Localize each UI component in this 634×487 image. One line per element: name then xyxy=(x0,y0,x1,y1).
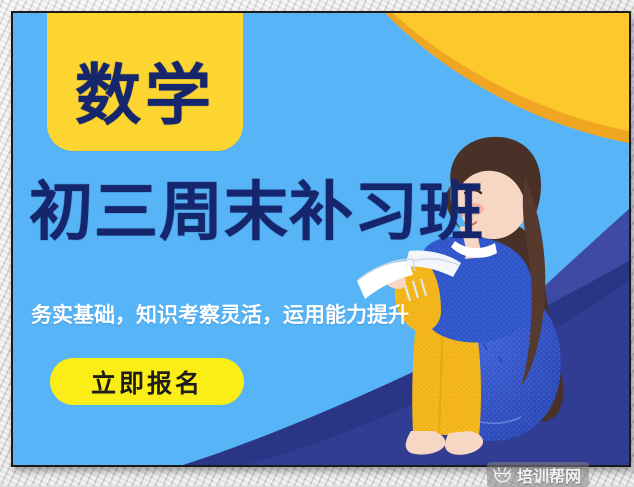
subject-badge-label: 数学 xyxy=(75,63,215,151)
subject-badge: 数学 xyxy=(47,11,243,151)
watermark-text: 培训帮网 xyxy=(517,463,581,487)
page-title: 初三周末补习班 xyxy=(29,181,607,245)
subtitle-text: 务实基础，知识考察灵活，运用能力提升 xyxy=(31,299,409,329)
poster-canvas: 数学 初三周末补习班 务实基础，知识考察灵活，运用能力提升 立即报名 xyxy=(11,11,631,467)
smiling-sun-face-icon xyxy=(493,467,512,483)
watermark: 培训帮网 xyxy=(487,462,589,487)
enroll-now-button-label: 立即报名 xyxy=(91,364,203,400)
enroll-now-button[interactable]: 立即报名 xyxy=(50,358,244,405)
